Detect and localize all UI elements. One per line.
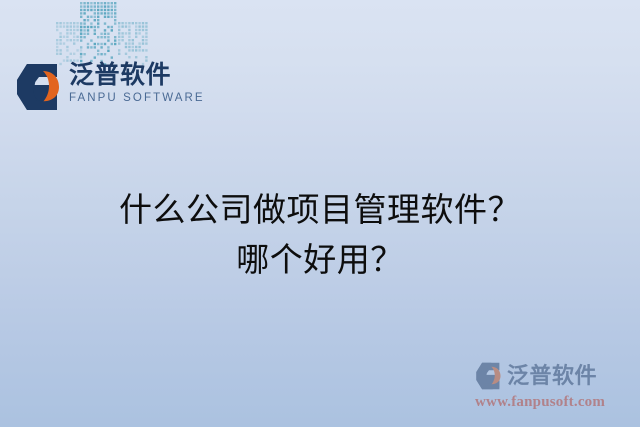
page-title-line-1: 什么公司做项目管理软件？ [0, 186, 640, 236]
brand-logo: 泛普软件 FANPU SOFTWARE [13, 60, 178, 122]
watermark-brand-name: 泛普软件 [507, 363, 597, 389]
fanpu-hexagon-arc-logo-icon [474, 361, 504, 391]
watermark: 泛普软件 www.fanpusoft.com [474, 359, 624, 415]
brand-name-cn: 泛普软件 [69, 60, 205, 90]
brand-logo-wordmark: 泛普软件 FANPU SOFTWARE [69, 60, 205, 105]
page-title: 什么公司做项目管理软件？ 哪个好用？ [0, 186, 640, 286]
brand-name-en: FANPU SOFTWARE [69, 91, 205, 105]
promo-banner: 泛普软件 FANPU SOFTWARE 什么公司做项目管理软件？ 哪个好用？ 泛… [0, 0, 640, 427]
fanpu-hexagon-arc-logo-icon [13, 61, 65, 113]
page-title-line-2: 哪个好用？ [0, 236, 640, 286]
watermark-logo-row: 泛普软件 [474, 359, 597, 393]
watermark-url: www.fanpusoft.com [475, 393, 605, 411]
